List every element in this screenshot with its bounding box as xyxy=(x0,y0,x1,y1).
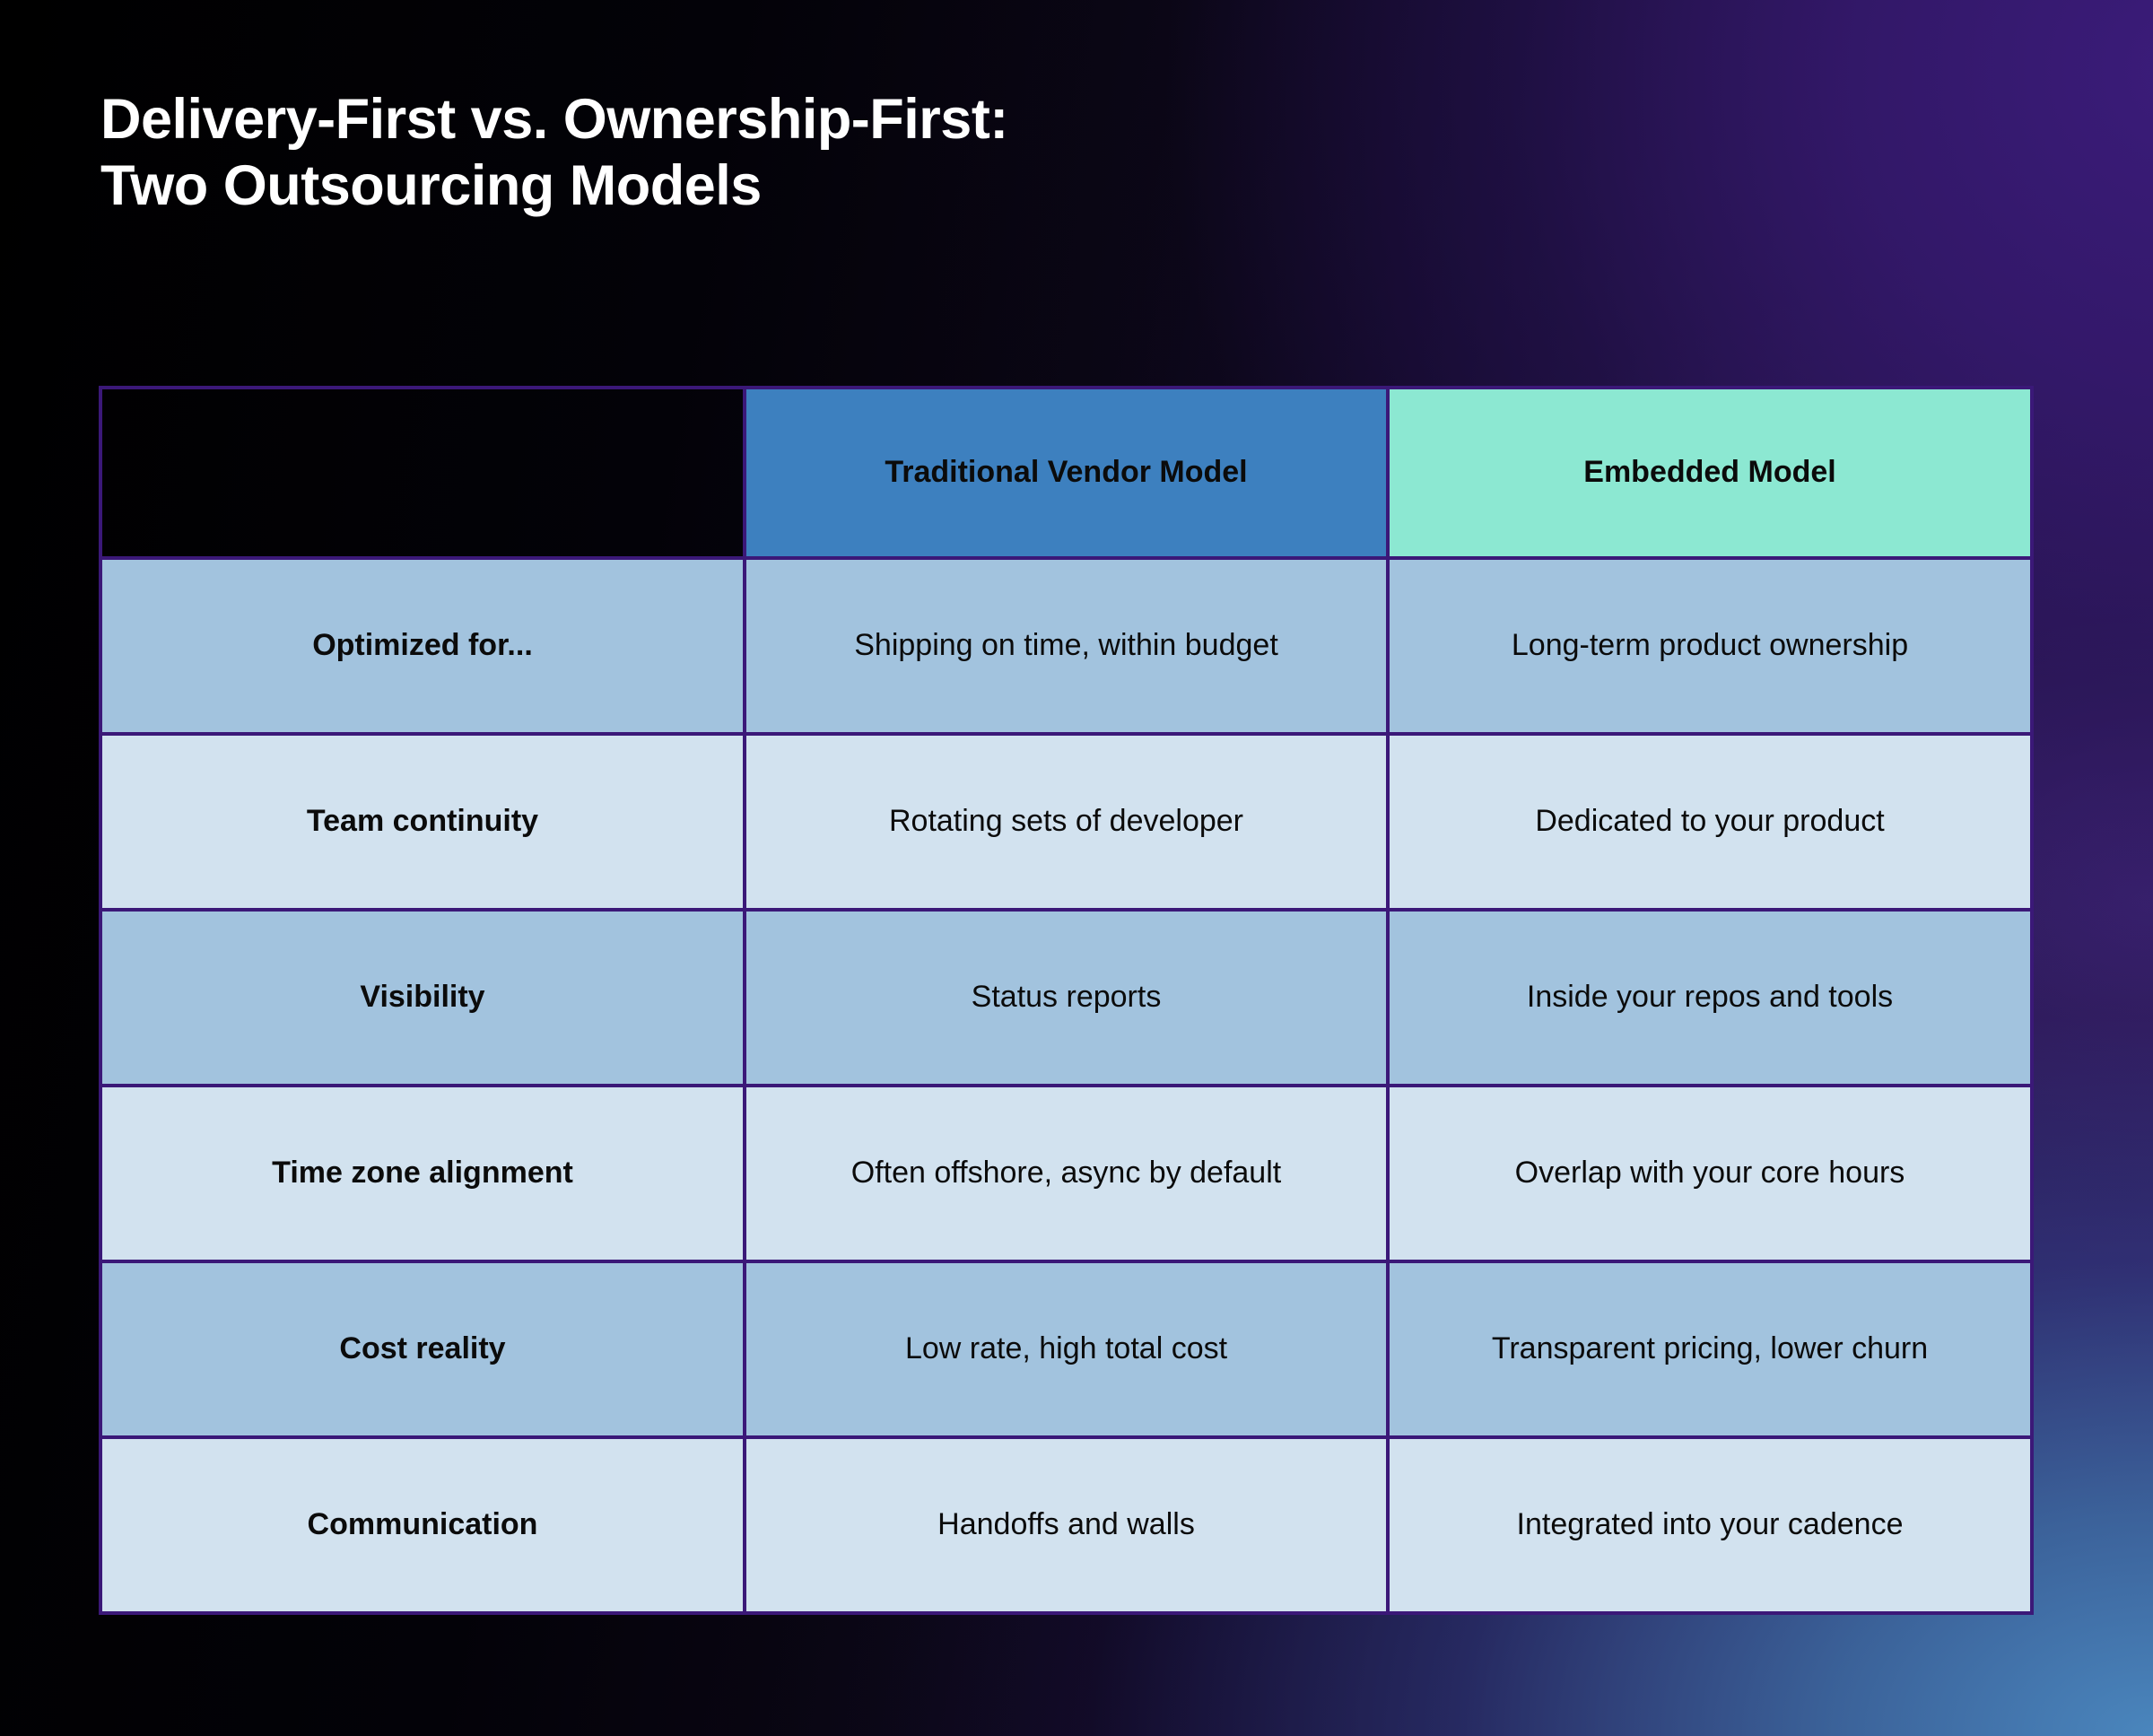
cell-traditional-communication: Handoffs and walls xyxy=(745,1437,1388,1613)
table-row: Communication Handoffs and walls Integra… xyxy=(100,1437,2032,1613)
column-header-traditional-vendor-model: Traditional Vendor Model xyxy=(745,388,1388,558)
table-body: Optimized for... Shipping on time, withi… xyxy=(100,558,2032,1613)
table-header: Traditional Vendor Model Embedded Model xyxy=(100,388,2032,558)
row-label-visibility: Visibility xyxy=(100,910,745,1086)
table-header-row: Traditional Vendor Model Embedded Model xyxy=(100,388,2032,558)
comparison-table: Traditional Vendor Model Embedded Model … xyxy=(99,386,2034,1615)
row-label-team-continuity: Team continuity xyxy=(100,734,745,910)
page-title: Delivery-First vs. Ownership-First: Two … xyxy=(100,86,1626,220)
cell-embedded-time-zone-alignment: Overlap with your core hours xyxy=(1388,1086,2032,1261)
cell-embedded-optimized-for: Long-term product ownership xyxy=(1388,558,2032,734)
cell-traditional-cost-reality: Low rate, high total cost xyxy=(745,1261,1388,1437)
cell-traditional-time-zone-alignment: Often offshore, async by default xyxy=(745,1086,1388,1261)
cell-traditional-visibility: Status reports xyxy=(745,910,1388,1086)
cell-embedded-cost-reality: Transparent pricing, lower churn xyxy=(1388,1261,2032,1437)
cell-embedded-visibility: Inside your repos and tools xyxy=(1388,910,2032,1086)
row-label-communication: Communication xyxy=(100,1437,745,1613)
row-label-optimized-for: Optimized for... xyxy=(100,558,745,734)
table-row: Cost reality Low rate, high total cost T… xyxy=(100,1261,2032,1437)
table-corner-cell xyxy=(100,388,745,558)
cell-embedded-communication: Integrated into your cadence xyxy=(1388,1437,2032,1613)
cell-traditional-team-continuity: Rotating sets of developer xyxy=(745,734,1388,910)
table-row: Team continuity Rotating sets of develop… xyxy=(100,734,2032,910)
cell-traditional-optimized-for: Shipping on time, within budget xyxy=(745,558,1388,734)
table-row: Optimized for... Shipping on time, withi… xyxy=(100,558,2032,734)
row-label-cost-reality: Cost reality xyxy=(100,1261,745,1437)
page-title-line-2: Two Outsourcing Models xyxy=(100,153,1626,219)
table-row: Time zone alignment Often offshore, asyn… xyxy=(100,1086,2032,1261)
cell-embedded-team-continuity: Dedicated to your product xyxy=(1388,734,2032,910)
row-label-time-zone-alignment: Time zone alignment xyxy=(100,1086,745,1261)
column-header-embedded-model: Embedded Model xyxy=(1388,388,2032,558)
table-row: Visibility Status reports Inside your re… xyxy=(100,910,2032,1086)
page-title-line-1: Delivery-First vs. Ownership-First: xyxy=(100,86,1626,153)
